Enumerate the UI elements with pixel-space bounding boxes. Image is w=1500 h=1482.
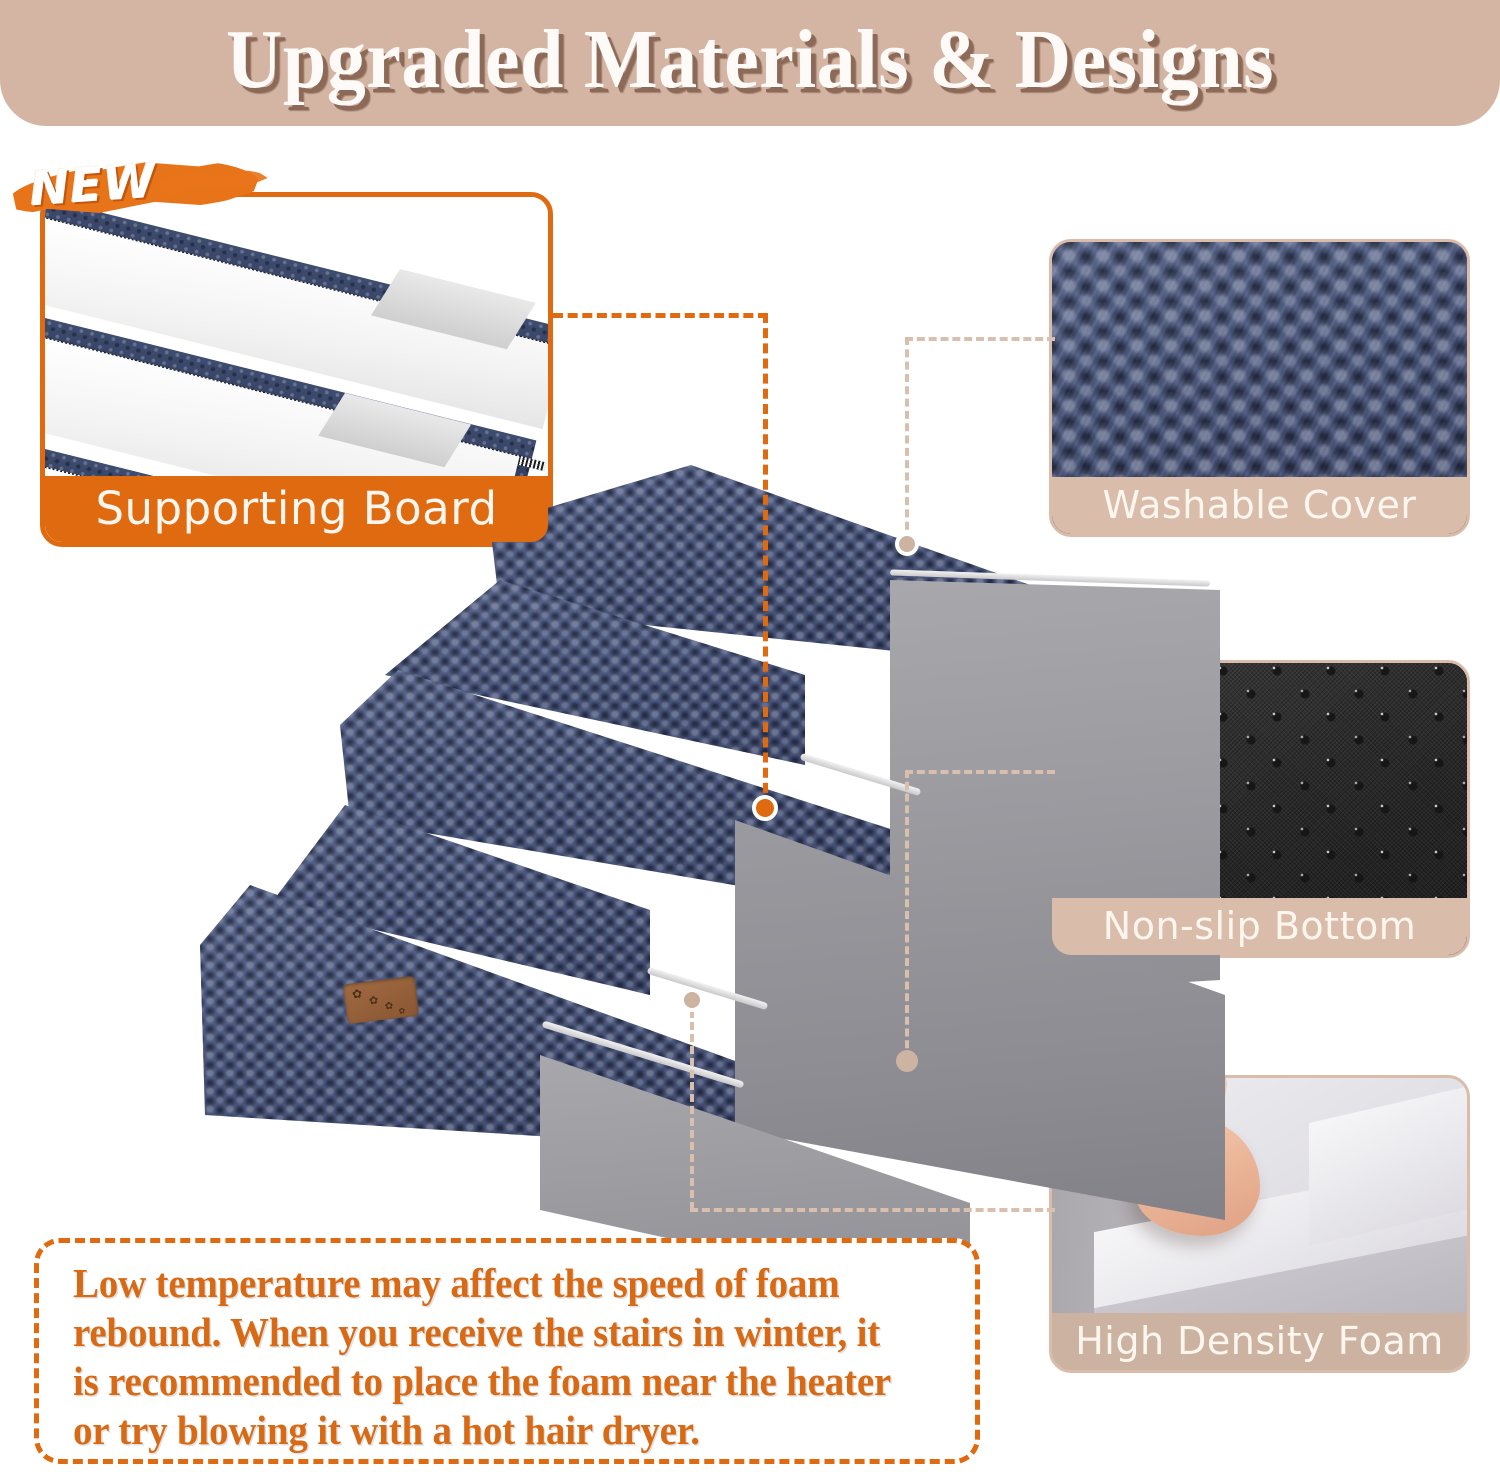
connector-foam-horizontal	[690, 1208, 1055, 1212]
infographic-page: Upgraded Materials & Designs Supporting …	[0, 0, 1500, 1482]
paw-icon: ✿	[368, 994, 379, 1008]
panel-supporting-board-caption: Supporting Board	[45, 476, 548, 542]
connector-supporting-board-vertical	[763, 313, 768, 808]
warning-note-text: Low temperature may affect the speed of …	[73, 1259, 901, 1455]
connector-dot-non-slip-bottom	[896, 1050, 918, 1072]
panel-washable-cover-caption: Washable Cover	[1052, 477, 1467, 534]
panel-supporting-board: Supporting Board	[40, 192, 553, 547]
connector-non-slip-horizontal	[905, 770, 1055, 774]
header-banner: Upgraded Materials & Designs	[0, 0, 1500, 126]
panel-non-slip-bottom-caption: Non-slip Bottom	[1052, 898, 1467, 955]
paw-icon: ✿	[351, 987, 363, 1001]
connector-dot-supporting-board	[752, 795, 778, 821]
page-title: Upgraded Materials & Designs	[53, 4, 1448, 116]
pet-stairs-product-image: ✿ ✿ ✿ ✿	[190, 455, 1070, 1245]
new-badge: NEW	[6, 152, 268, 228]
connector-washable-cover-vertical	[905, 337, 909, 542]
connector-non-slip-vertical	[905, 770, 909, 1060]
warning-note-box: Low temperature may affect the speed of …	[34, 1238, 980, 1464]
panel-high-density-foam-caption: High Density Foam	[1052, 1313, 1467, 1370]
connector-foam-vertical	[690, 1010, 694, 1210]
new-badge-label: NEW	[28, 154, 158, 219]
connector-supporting-board-horizontal	[553, 313, 768, 318]
connector-dot-washable-cover	[895, 532, 919, 556]
panel-washable-cover: Washable Cover	[1049, 239, 1470, 537]
paw-icon: ✿	[398, 1004, 406, 1018]
connector-dot-high-density-foam	[680, 988, 704, 1012]
paw-icon: ✿	[384, 1000, 394, 1014]
connector-washable-cover-horizontal	[905, 337, 1055, 341]
